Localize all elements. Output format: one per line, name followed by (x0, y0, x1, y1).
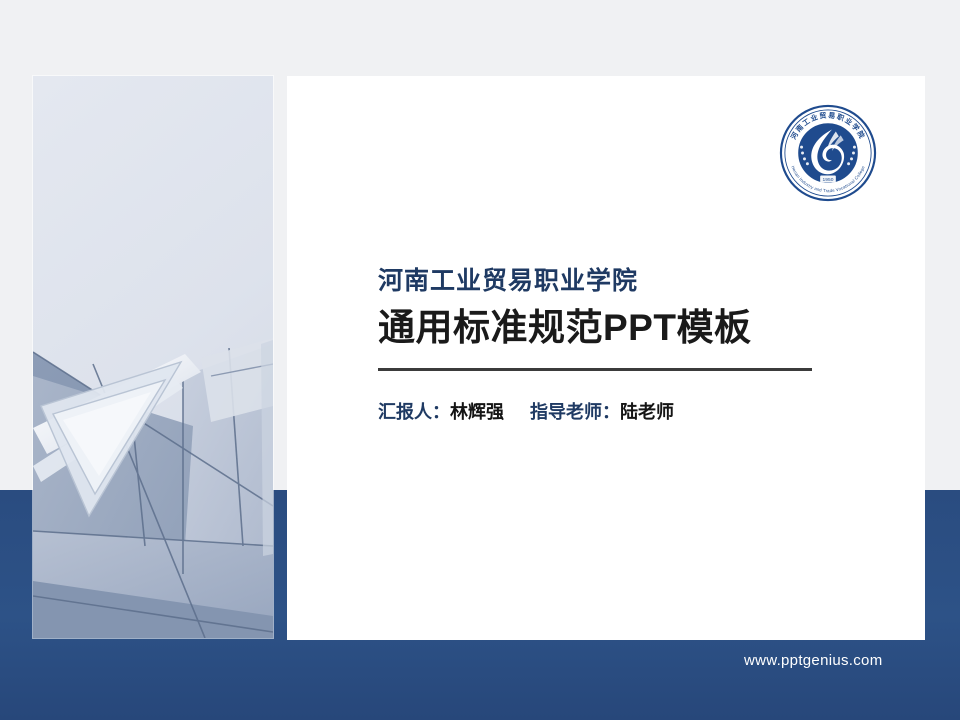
university-seal-logo: 1950 河南工业贸易职业学院 Henan Industry and Trade… (779, 104, 877, 202)
title-divider (378, 368, 812, 371)
architecture-facade-photo-graphic (33, 76, 273, 638)
title-text-block: 河南工业贸易职业学院 通用标准规范PPT模板 汇报人：林辉强指导老师：陆老师 (378, 266, 848, 425)
advisor-label: 指导老师： (530, 402, 620, 422)
organization-name: 河南工业贸易职业学院 (378, 266, 848, 296)
footer-website-url: www.pptgenius.com (744, 652, 883, 669)
presenter-label: 汇报人： (378, 402, 450, 422)
presentation-meta-row: 汇报人：林辉强指导老师：陆老师 (378, 401, 848, 424)
advisor-name: 陆老师 (620, 402, 674, 422)
presentation-title-slide: 1950 河南工业贸易职业学院 Henan Industry and Trade… (0, 0, 960, 720)
presenter-name: 林辉强 (450, 402, 504, 422)
page-title: 通用标准规范PPT模板 (378, 306, 848, 350)
university-seal-logo-graphic: 1950 河南工业贸易职业学院 Henan Industry and Trade… (779, 104, 877, 202)
logo-year: 1950 (823, 177, 834, 183)
architecture-facade-photo (33, 76, 273, 638)
title-content-card: 1950 河南工业贸易职业学院 Henan Industry and Trade… (287, 76, 925, 640)
